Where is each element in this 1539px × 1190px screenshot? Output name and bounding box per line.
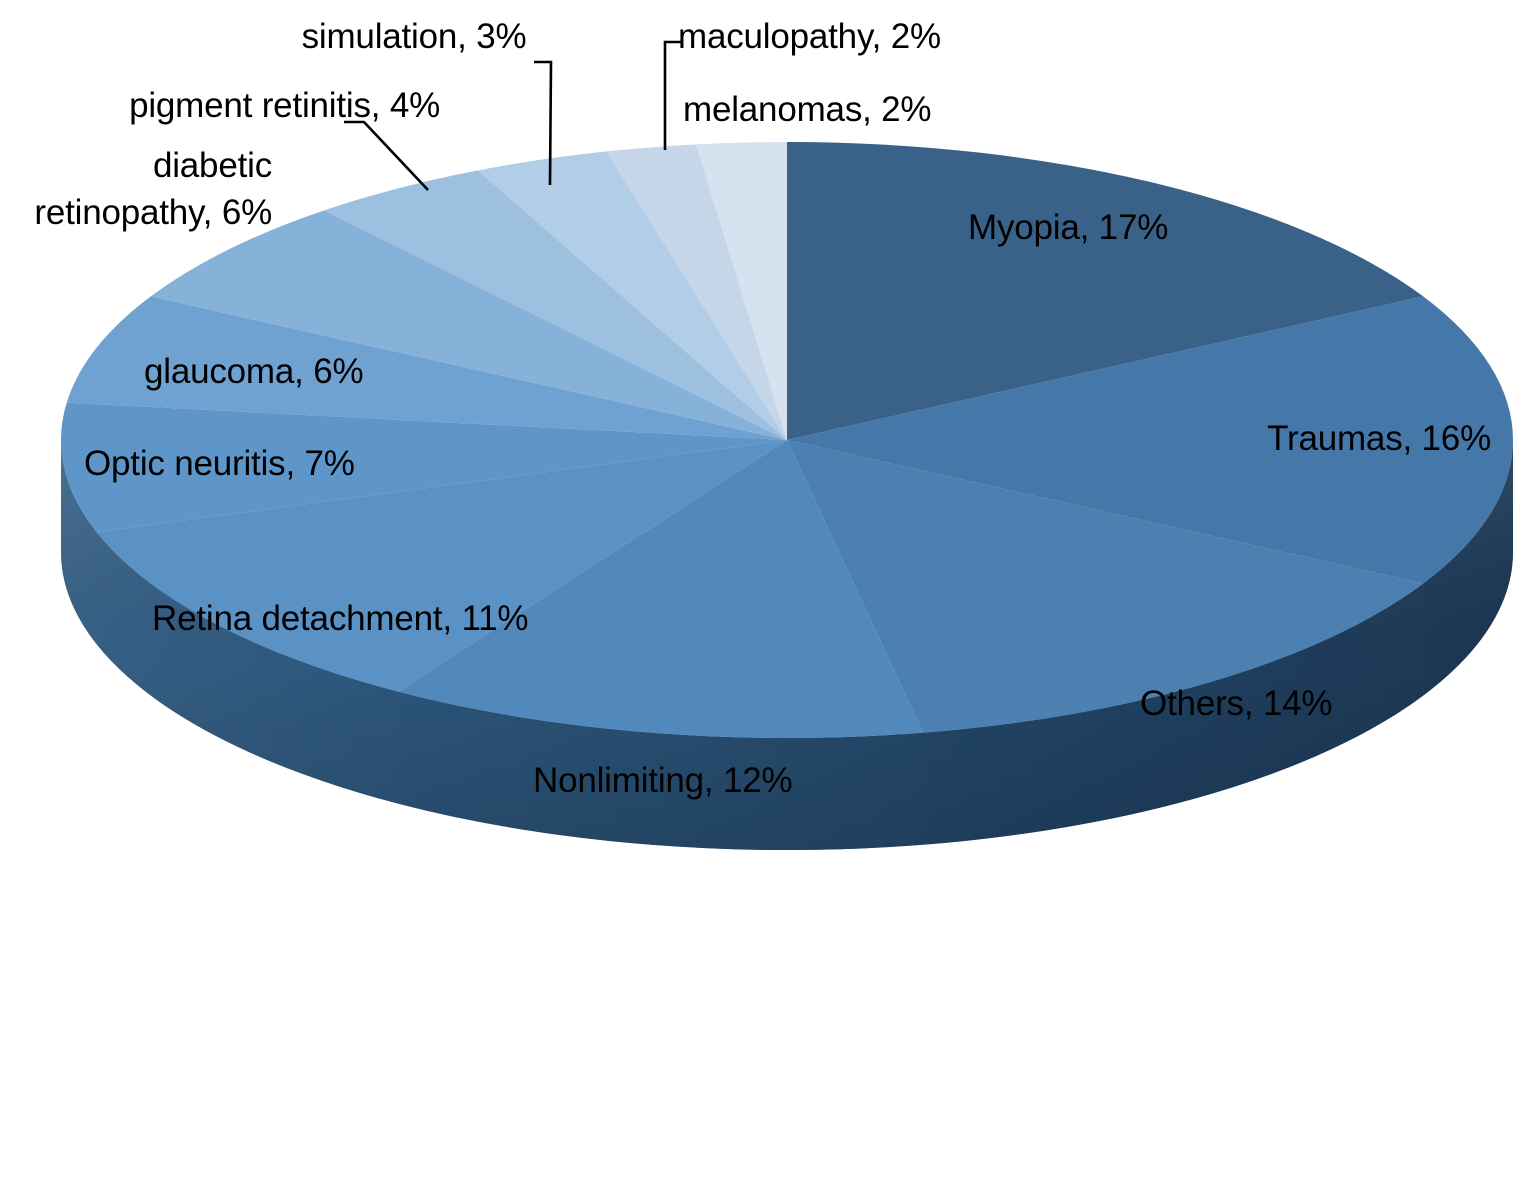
slice-label-optic-neuritis: Optic neuritis, 7% [84,443,355,484]
slice-label-simulation: simulation, 3% [264,16,564,57]
slice-label-diabetic-retinopathy-line2: retinopathy, 6% [0,192,272,233]
leader-line-pigment-retinitis [344,122,428,190]
slice-label-melanomas: melanomas, 2% [683,89,931,130]
slice-label-myopia: Myopia, 17% [968,207,1168,248]
leader-line-maculopathy [665,42,681,150]
slice-label-diabetic-retinopathy-line1: diabetic [0,145,272,186]
slice-label-maculopathy: maculopathy, 2% [678,16,941,57]
slice-label-retina-detachment: Retina detachment, 11% [152,598,528,639]
chart-canvas: simulation, 3% maculopathy, 2% melanomas… [0,0,1539,1190]
slice-label-pigment-retinitis: pigment retinitis, 4% [0,85,440,126]
slice-label-traumas: Traumas, 16% [1000,418,1491,459]
slice-label-glaucoma: glaucoma, 6% [144,351,363,392]
slice-label-nonlimiting: Nonlimiting, 12% [533,760,792,801]
slice-label-others: Others, 14% [1140,683,1332,724]
